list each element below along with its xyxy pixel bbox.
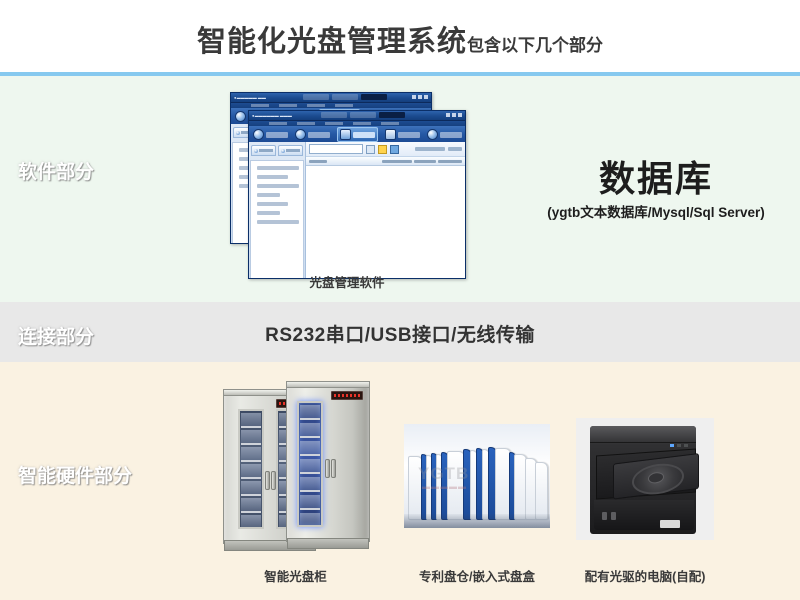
pc-case (590, 426, 696, 534)
window-titlebar: ● ▬▬▬▬▬ ▬▬ (231, 93, 431, 103)
status-count (448, 147, 462, 151)
dropdown-icon[interactable] (366, 145, 375, 154)
page-title-main: 智能化光盘管理系统 (197, 26, 467, 58)
pc-status-leds (670, 444, 688, 447)
toolbar-button-search[interactable] (427, 129, 462, 140)
folder-icon[interactable] (378, 145, 387, 154)
menu-item[interactable] (307, 104, 325, 107)
tab-icon (236, 131, 240, 135)
disc-tray-photo: YGTB ▬▬▬▬▬ (404, 424, 550, 528)
cabinet-handle (271, 471, 276, 490)
cabinet-right (286, 384, 370, 542)
tree-item[interactable] (257, 193, 280, 197)
column-header[interactable] (414, 160, 436, 163)
window-tab[interactable] (332, 94, 358, 100)
cabinet-handle (325, 459, 330, 478)
menu-item[interactable] (279, 104, 297, 107)
window-tab-strip[interactable] (321, 112, 405, 118)
database-block: 数据库 (ygtb文本数据库/Mysql/Sql Server) (520, 160, 792, 221)
window-title-text: ● ▬▬▬▬▬ ▬▬ (234, 95, 266, 101)
page-title-sub: 包含以下几个部分 (467, 36, 603, 55)
sidebar-panel[interactable] (249, 142, 306, 278)
close-icon[interactable] (424, 95, 428, 99)
maximize-icon[interactable] (418, 95, 422, 99)
window-tab[interactable] (350, 112, 376, 118)
refresh-icon[interactable] (390, 145, 399, 154)
poster-root: 智能化光盘管理系统包含以下几个部分 软件部分 ● ▬▬▬▬▬ ▬▬ (0, 0, 800, 600)
optical-drive-tray (613, 453, 699, 500)
disc-icon (340, 129, 351, 140)
watermark-subtext: ▬▬▬▬▬ (422, 482, 467, 491)
window-tab[interactable] (321, 112, 347, 118)
main-content-panel (306, 142, 465, 278)
pc-badge (660, 520, 680, 528)
toolbar-button-active[interactable] (337, 127, 378, 142)
menu-item[interactable] (381, 122, 399, 125)
tray-white (535, 462, 548, 520)
maximize-icon[interactable] (452, 113, 456, 117)
cabinet-handle (265, 471, 270, 490)
status-area (415, 147, 462, 151)
window-controls[interactable] (446, 113, 462, 117)
disc-cabinet-photo (213, 378, 378, 554)
app-window-front[interactable]: ● ▬▬▬▬▬▬ ▬▬▬ (248, 110, 466, 279)
menu-item[interactable] (269, 122, 287, 125)
close-icon[interactable] (458, 113, 462, 117)
cabinet-glass-panel-lit (297, 401, 323, 527)
window-tab-selected[interactable] (379, 112, 405, 118)
software-caption: 光盘管理软件 (222, 272, 472, 291)
search-icon (427, 129, 438, 140)
import-icon (253, 129, 264, 140)
search-toolbar[interactable] (306, 142, 465, 157)
toolbar-button-label (353, 132, 375, 138)
menu-item[interactable] (335, 104, 353, 107)
tab-label (259, 149, 273, 152)
tree-item[interactable] (257, 184, 299, 188)
window-tab[interactable] (303, 94, 329, 100)
tab-icon (281, 149, 285, 153)
database-subtitle: (ygtb文本数据库/Mysql/Sql Server) (520, 201, 792, 221)
toolbar-button-label (266, 132, 288, 138)
sidebar-tabs[interactable] (249, 145, 305, 158)
menu-item[interactable] (325, 122, 343, 125)
tree-item[interactable] (257, 202, 288, 206)
optical-drive-bay (596, 449, 696, 500)
pc-buttons[interactable] (602, 512, 616, 520)
cabinet-base (287, 538, 369, 549)
minimize-icon[interactable] (412, 95, 416, 99)
table-header-row (306, 157, 465, 166)
connection-methods-text: RS232串口/USB接口/无线传输 (205, 320, 595, 347)
toolbar-button-label (308, 132, 330, 138)
window-tab-strip[interactable] (303, 94, 387, 100)
hardware-caption-computer: 配有光驱的电脑(自配) (570, 566, 720, 585)
cabinet-handle (331, 459, 336, 478)
search-input[interactable] (309, 144, 363, 154)
status-text (415, 147, 445, 151)
window-body (249, 142, 465, 278)
tree-item[interactable] (257, 166, 299, 170)
tab-label (286, 149, 300, 152)
header: 智能化光盘管理系统包含以下几个部分 (0, 0, 800, 73)
hardware-caption-trays: 专利盘仓/嵌入式盘盒 (392, 566, 562, 585)
database-title: 数据库 (520, 160, 792, 198)
cabinet-glass-panel (238, 409, 264, 529)
window-tab-selected[interactable] (361, 94, 387, 100)
pc-top-panel (590, 426, 696, 443)
window-controls[interactable] (412, 95, 428, 99)
section-label-software: 软件部分 (18, 157, 94, 184)
menu-item[interactable] (251, 104, 269, 107)
cabinet-top (286, 381, 370, 388)
toolbar-button-label (440, 132, 462, 138)
tree-item[interactable] (257, 175, 288, 179)
tray-shadow (404, 514, 550, 528)
toolbar-button-settings[interactable] (385, 129, 420, 140)
led-display (331, 391, 363, 400)
export-icon (295, 129, 306, 140)
section-label-connection: 连接部分 (18, 322, 94, 349)
toolbar-button-export[interactable] (295, 129, 330, 140)
toolbar-button-import[interactable] (253, 129, 288, 140)
column-header[interactable] (438, 160, 462, 163)
minimize-icon[interactable] (446, 113, 450, 117)
sidebar-tree[interactable] (250, 160, 304, 279)
column-header[interactable] (382, 160, 412, 163)
window-title-text: ● ▬▬▬▬▬▬ ▬▬▬ (252, 113, 292, 119)
column-header[interactable] (309, 160, 327, 163)
menu-item[interactable] (297, 122, 315, 125)
software-screenshot-group: ● ▬▬▬▬▬ ▬▬ (222, 92, 472, 277)
import-icon (235, 111, 246, 122)
tab-icon (254, 149, 258, 153)
computer-with-optical-drive-photo (576, 418, 714, 540)
toolbar-button-label (398, 132, 420, 138)
gear-icon (385, 129, 396, 140)
pc-front-panel (594, 500, 694, 530)
sidebar-tab-1[interactable] (251, 145, 276, 156)
section-label-hardware: 智能硬件部分 (18, 461, 132, 488)
hardware-caption-cabinet: 智能光盘柜 (213, 566, 378, 585)
page-title: 智能化光盘管理系统包含以下几个部分 (0, 18, 800, 60)
menu-item[interactable] (353, 122, 371, 125)
window-titlebar: ● ▬▬▬▬▬▬ ▬▬▬ (249, 111, 465, 121)
tree-item[interactable] (257, 211, 280, 215)
sidebar-tab-2[interactable] (278, 145, 303, 156)
tree-item[interactable] (257, 220, 299, 224)
